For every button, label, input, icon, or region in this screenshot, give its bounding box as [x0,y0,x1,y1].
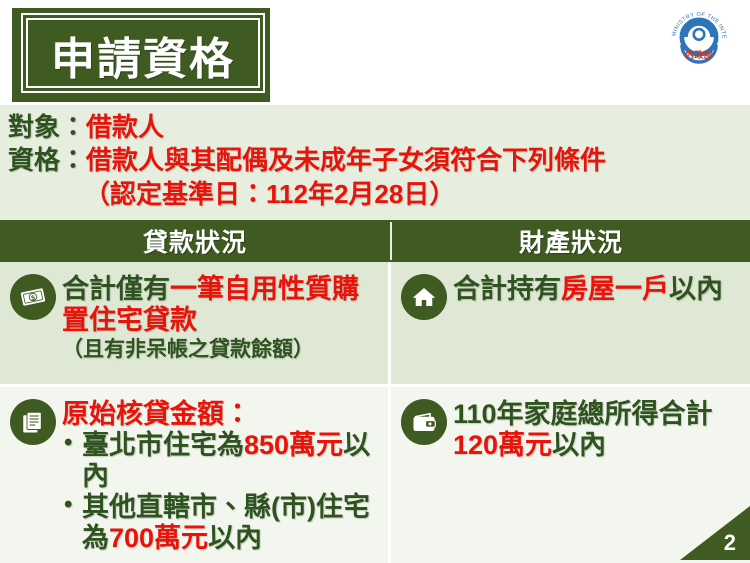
bullet-1-green-1: 臺北市住宅為 [82,430,244,460]
intro-target-label: 對象： [8,112,86,142]
loan-count-note: （且有非呆帳之貸款餘額） [62,338,380,362]
loan-count-green-1: 合計僅有 [62,274,170,304]
bullet-2-green-2: 以內 [208,523,262,553]
intro-qualification-value: 借款人與其配偶及未成年子女須符合下列條件 [86,145,606,175]
property-count-green-2: 以內 [669,274,723,304]
intro-qualification-label: 資格： [8,145,86,175]
column-header-bar: 貸款狀況 財產狀況 [0,220,750,262]
intro-line-baseline-date: （認定基準日：112年2月28日） [8,178,742,211]
cell-loan-amount: 原始核貸金額： 臺北市住宅為850萬元以內 其他直轄市、縣(市)住宅為700萬元… [0,387,388,563]
household-income-green-1: 110年家庭總所得合計 [453,399,713,429]
page-number-corner: 2 [680,506,750,560]
household-income-green-2: 以內 [552,430,606,460]
intro-block: 對象：借款人 資格：借款人與其配偶及未成年子女須符合下列條件 （認定基準日：11… [0,105,750,220]
intro-target-value: 借款人 [86,112,164,142]
intro-line-target: 對象：借款人 [8,111,742,144]
cell-loan-amount-text: 原始核貸金額： 臺北市住宅為850萬元以內 其他直轄市、縣(市)住宅為700萬元… [62,397,380,553]
cell-property-count-text: 合計持有房屋一戶以內 [453,272,723,305]
criteria-grid: $ 合計僅有一筆自用性質購置住宅貸款 （且有非呆帳之貸款餘額） 合計持有 [0,262,750,560]
criteria-row-1: $ 合計僅有一筆自用性質購置住宅貸款 （且有非呆帳之貸款餘額） 合計持有 [0,262,750,384]
svg-text:內政部: 內政部 [685,49,713,60]
slide-root: MINISTRY OF THE INTERIOR 內政部 申請資格 對象：借款人… [0,0,750,560]
property-count-green-1: 合計持有 [453,274,561,304]
page-number: 2 [724,530,736,556]
cell-loan-count-text: 合計僅有一筆自用性質購置住宅貸款 （且有非呆帳之貸款餘額） [62,272,380,362]
loan-amount-bullet-2: 其他直轄市、縣(市)住宅為700萬元以內 [62,492,380,554]
slide-title-banner: 申請資格 [12,8,270,102]
loan-amount-bullet-1: 臺北市住宅為850萬元以內 [62,430,380,492]
column-header-loan-status: 貸款狀況 [0,220,390,262]
intro-baseline-date-value: （認定基準日：112年2月28日） [84,179,455,209]
wallet-icon [401,399,447,445]
corner-triangle [680,506,750,560]
bullet-1-red-1: 850萬元 [244,430,343,460]
banknote-icon: $ [10,274,56,320]
documents-icon [10,399,56,445]
bullet-2-red-1: 700萬元 [109,523,208,553]
property-count-red-1: 房屋一戶 [561,274,669,304]
column-header-property-status: 財產狀況 [392,220,750,262]
loan-amount-bullet-list: 臺北市住宅為850萬元以內 其他直轄市、縣(市)住宅為700萬元以內 [62,430,380,553]
cell-household-income-text: 110年家庭總所得合計120萬元以內 [453,397,742,462]
cell-property-count: 合計持有房屋一戶以內 [391,262,750,384]
cell-loan-count: $ 合計僅有一筆自用性質購置住宅貸款 （且有非呆帳之貸款餘額） [0,262,388,384]
house-icon [401,274,447,320]
household-income-red-1: 120萬元 [453,430,552,460]
criteria-row-2: 原始核貸金額： 臺北市住宅為850萬元以內 其他直轄市、縣(市)住宅為700萬元… [0,387,750,563]
ministry-of-the-interior-emblem-icon: MINISTRY OF THE INTERIOR 內政部 [666,4,732,70]
loan-amount-heading: 原始核貸金額： [62,399,380,430]
intro-line-qualification: 資格：借款人與其配偶及未成年子女須符合下列條件 [8,144,742,177]
loan-amount-heading-label: 原始核貸金額： [62,399,251,429]
page-title: 申請資格 [12,8,270,102]
